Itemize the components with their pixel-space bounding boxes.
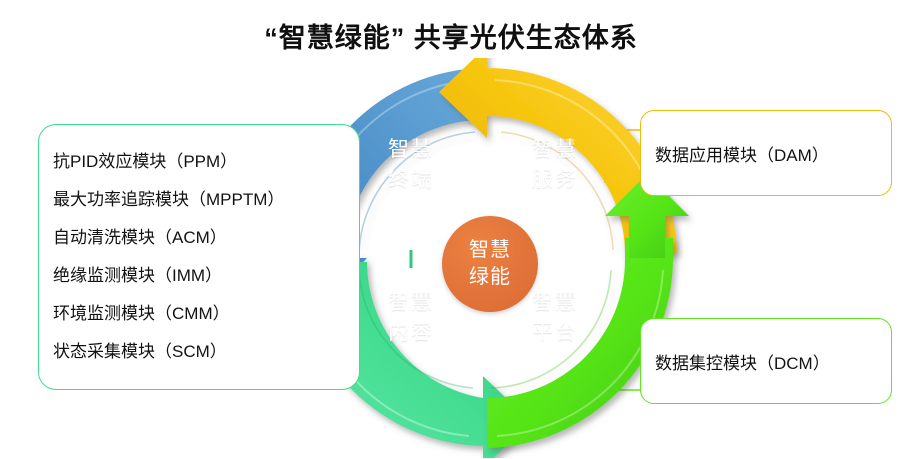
dam-callout-label: 数据应用模块（DAM） bbox=[655, 141, 829, 166]
quadrant-label-line2: 服务 bbox=[512, 165, 598, 195]
left-module-callout[interactable]: 抗PID效应模块（PPM） 最大功率追踪模块（MPPTM） 自动清洗模块（ACM… bbox=[38, 124, 360, 390]
quadrant-label-line2: 终端 bbox=[368, 165, 454, 195]
left-module-item: 最大功率追踪模块（MPPTM） bbox=[53, 181, 284, 219]
quadrant-label-line2: 内容 bbox=[368, 318, 454, 348]
left-module-item: 绝缘监测模块（IMM） bbox=[53, 257, 222, 295]
diagram-canvas: “智慧绿能” 共享光伏生态体系 bbox=[0, 0, 902, 459]
center-hub-line2: 绿能 bbox=[469, 264, 511, 291]
left-module-item: 抗PID效应模块（PPM） bbox=[53, 143, 237, 181]
dcm-callout[interactable]: 数据集控模块（DCM） bbox=[640, 318, 892, 404]
dam-callout[interactable]: 数据应用模块（DAM） bbox=[640, 110, 892, 196]
quadrant-label-line2: 平台 bbox=[512, 318, 598, 348]
left-module-item: 自动清洗模块（ACM） bbox=[53, 219, 227, 257]
left-module-item: 环境监测模块（CMM） bbox=[53, 295, 230, 333]
quadrant-label-line1: 智慧 bbox=[368, 288, 454, 318]
quadrant-label-smart-service: 智慧 服务 bbox=[512, 135, 598, 195]
quadrant-label-smart-terminal: 智慧 终端 bbox=[368, 135, 454, 195]
quadrant-label-smart-content: 智慧 内容 bbox=[368, 288, 454, 348]
center-hub[interactable]: 智慧 绿能 bbox=[442, 216, 538, 312]
quadrant-label-smart-platform: 智慧 平台 bbox=[512, 288, 598, 348]
dcm-callout-label: 数据集控模块（DCM） bbox=[655, 349, 830, 374]
left-module-item: 状态采集模块（SCM） bbox=[53, 333, 227, 371]
quadrant-label-line1: 智慧 bbox=[368, 135, 454, 165]
center-hub-line1: 智慧 bbox=[469, 237, 511, 264]
quadrant-label-line1: 智慧 bbox=[512, 135, 598, 165]
